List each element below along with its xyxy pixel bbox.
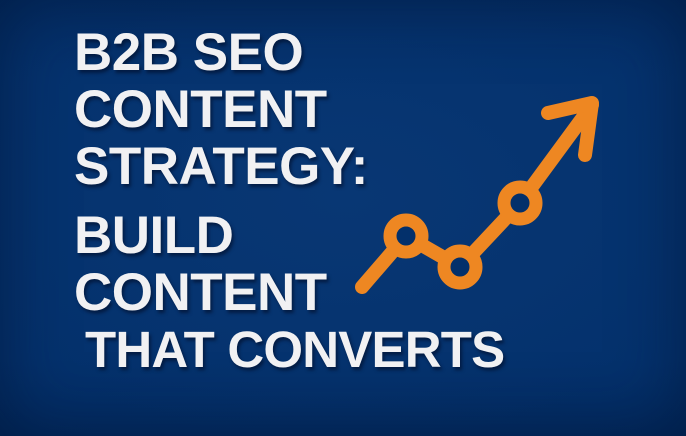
headline-line-1: B2B SEO: [74, 24, 634, 81]
headline-line-6: THAT CONVERTS: [85, 321, 634, 378]
headline-line-3: STRATEGY:: [74, 138, 634, 195]
headline-line-2: CONTENT: [74, 81, 634, 138]
headline-line-4: BUILD: [74, 207, 634, 264]
headline-line-5: CONTENT: [74, 264, 634, 321]
promo-banner: B2B SEO CONTENT STRATEGY: BUILD CONTENT …: [0, 0, 686, 436]
page-title: B2B SEO CONTENT STRATEGY: BUILD CONTENT …: [74, 24, 634, 378]
